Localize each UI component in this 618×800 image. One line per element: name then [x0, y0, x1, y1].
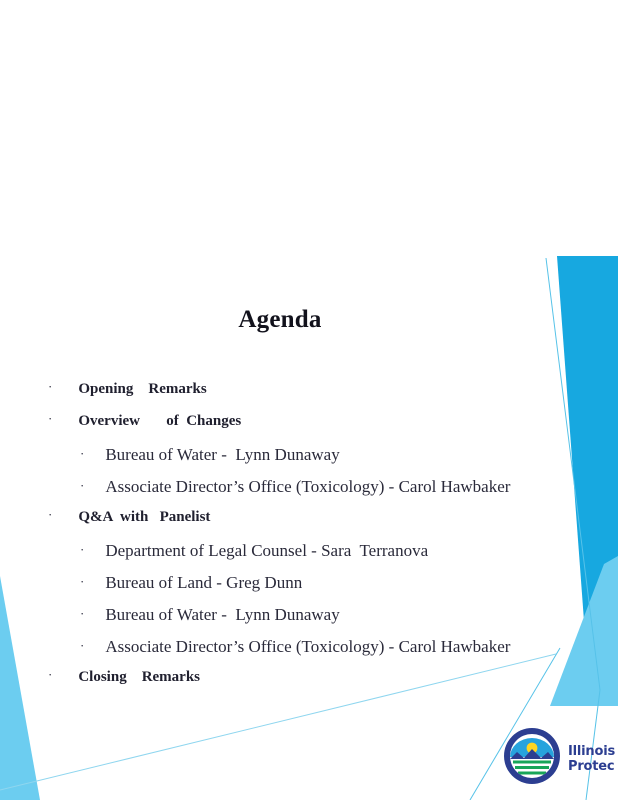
list-item: · Opening Remarks: [0, 381, 618, 413]
list-item-label: Bureau of Water - Lynn Dunaway: [105, 445, 339, 465]
list-item: · Closing Remarks: [0, 669, 618, 701]
page-title: Agenda: [0, 306, 560, 334]
list-item-label: Overview of Changes: [78, 413, 241, 430]
list-item-label: Opening Remarks: [78, 381, 206, 398]
list-item: · Bureau of Water - Lynn Dunaway: [0, 605, 618, 637]
illinois-epa-seal-icon: [503, 727, 561, 790]
slide-canvas: Agenda · Opening Remarks · Overview of C…: [0, 0, 618, 800]
logo-wordmark-line2: Protec: [568, 759, 615, 774]
list-item: · Associate Director’s Office (Toxicolog…: [0, 637, 618, 669]
list-item: · Q&A with Panelist: [0, 509, 618, 541]
bullet-icon: ·: [80, 575, 84, 588]
list-item: · Overview of Changes: [0, 413, 618, 445]
bullet-icon: ·: [80, 639, 84, 652]
logo-wordmark-line1: Illinois: [568, 744, 615, 759]
list-item: · Department of Legal Counsel - Sara Ter…: [0, 541, 618, 573]
list-item-label: Q&A with Panelist: [78, 509, 210, 526]
list-item-label: Department of Legal Counsel - Sara Terra…: [105, 541, 428, 561]
list-item-label: Associate Director’s Office (Toxicology)…: [105, 477, 510, 497]
bullet-icon: ·: [80, 447, 84, 460]
list-item-label: Associate Director’s Office (Toxicology)…: [105, 637, 510, 657]
list-item: · Bureau of Water - Lynn Dunaway: [0, 445, 618, 477]
bullet-icon: ·: [48, 668, 52, 681]
list-item-label: Bureau of Land - Greg Dunn: [105, 573, 302, 593]
list-item: · Associate Director’s Office (Toxicolog…: [0, 477, 618, 509]
logo-wordmark: Illinois Protec: [568, 744, 615, 774]
list-item: · Bureau of Land - Greg Dunn: [0, 573, 618, 605]
bullet-icon: ·: [80, 543, 84, 556]
bullet-icon: ·: [80, 479, 84, 492]
organization-logo: Illinois Protec: [503, 727, 615, 790]
bullet-icon: ·: [80, 607, 84, 620]
bullet-icon: ·: [48, 412, 52, 425]
bullet-icon: ·: [48, 380, 52, 393]
list-item-label: Closing Remarks: [78, 669, 200, 686]
list-item-label: Bureau of Water - Lynn Dunaway: [105, 605, 339, 625]
bullet-icon: ·: [48, 508, 52, 521]
agenda-list: · Opening Remarks · Overview of Changes …: [0, 381, 618, 701]
